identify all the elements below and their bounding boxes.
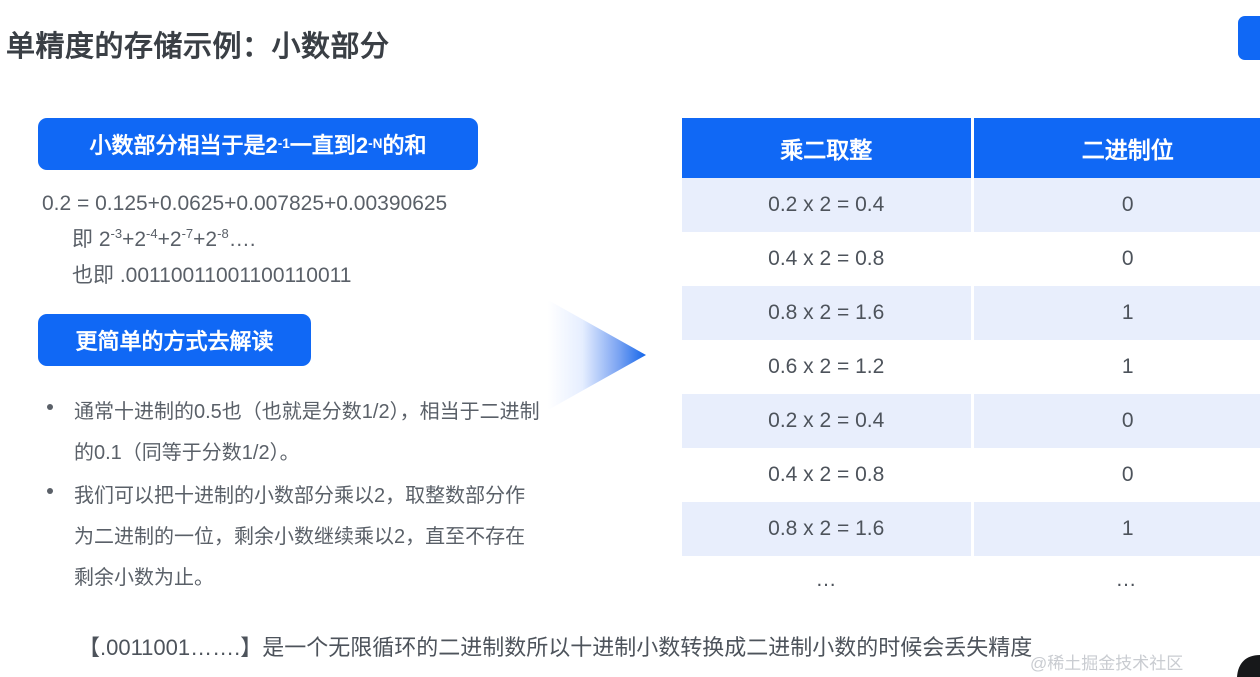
cell-bit-ellipsis: …: [972, 556, 1260, 604]
formula-block: 0.2 = 0.125+0.0625+0.007825+0.00390625 即…: [42, 186, 542, 294]
bullet-list: 通常十进制的0.5也（也就是分数1/2），相当于二进制的0.1（同等于分数1/2…: [40, 392, 540, 601]
table-row: 0.4 x 2 = 0.8 0: [682, 232, 1260, 286]
cell-bit: 1: [972, 502, 1260, 556]
formula-line-3: 也即 .00110011001100110011: [42, 258, 542, 294]
table-header-bit: 二进制位: [972, 118, 1260, 178]
badge-1-suffix: 的和: [383, 128, 427, 160]
list-item: 通常十进制的0.5也（也就是分数1/2），相当于二进制的0.1（同等于分数1/2…: [40, 392, 540, 474]
badge-1-middle: 一直到2: [290, 128, 368, 160]
formula-exp-3: -7: [182, 226, 194, 241]
cell-multiply: 0.6 x 2 = 1.2: [682, 340, 972, 394]
slide-canvas: 单精度的存储示例：小数部分 小数部分相当于是2-1一直到2-N的和 0.2 = …: [0, 0, 1260, 677]
formula-line-1: 0.2 = 0.125+0.0625+0.007825+0.00390625: [42, 186, 542, 222]
badge-fraction-sum: 小数部分相当于是2-1一直到2-N的和: [38, 118, 478, 170]
table-row: 0.8 x 2 = 1.6 1: [682, 502, 1260, 556]
cell-multiply: 0.4 x 2 = 0.8: [682, 448, 972, 502]
cell-multiply: 0.2 x 2 = 0.4: [682, 178, 972, 232]
watermark: @稀土掘金技术社区: [1030, 649, 1183, 674]
table-row: 0.2 x 2 = 0.4 0: [682, 394, 1260, 448]
cell-bit: 0: [972, 178, 1260, 232]
cell-bit: 0: [972, 232, 1260, 286]
badge-simpler-method: 更简单的方式去解读: [38, 314, 311, 366]
cell-bit: 1: [972, 286, 1260, 340]
formula-line-2-b: +2: [158, 228, 182, 251]
formula-line-2-c: +2: [193, 228, 217, 251]
table-row: 0.4 x 2 = 0.8 0: [682, 448, 1260, 502]
right-gradient-arrow-icon: [548, 300, 648, 410]
corner-tab-decoration: [1238, 16, 1260, 60]
cell-multiply: 0.4 x 2 = 0.8: [682, 232, 972, 286]
formula-line-2-prefix: 即 2: [72, 228, 111, 251]
table-header-multiply: 乘二取整: [682, 118, 972, 178]
cell-multiply-ellipsis: …: [682, 556, 972, 604]
formula-line-2: 即 2-3+2-4+2-7+2-8….: [42, 222, 542, 258]
cell-bit: 0: [972, 448, 1260, 502]
table-row: 0.8 x 2 = 1.6 1: [682, 286, 1260, 340]
cell-bit: 1: [972, 340, 1260, 394]
table-row: 0.2 x 2 = 0.4 0: [682, 178, 1260, 232]
table-row: 0.6 x 2 = 1.2 1: [682, 340, 1260, 394]
cell-multiply: 0.8 x 2 = 1.6: [682, 502, 972, 556]
cell-multiply: 0.2 x 2 = 0.4: [682, 394, 972, 448]
formula-exp-4: -8: [217, 226, 229, 241]
cell-bit: 0: [972, 394, 1260, 448]
badge-1-prefix: 小数部分相当于是2: [89, 128, 277, 160]
footer-note: 【.0011001…….】是一个无限循环的二进制数所以十进制小数转换成二进制小数…: [78, 630, 1032, 662]
list-item: 我们可以把十进制的小数部分乘以2，取整数部分作为二进制的一位，剩余小数继续乘以2…: [40, 476, 540, 599]
bullet-dot-icon: [47, 488, 53, 494]
formula-exp-2: -4: [146, 226, 158, 241]
formula-line-2-a: +2: [122, 228, 146, 251]
list-item-label: 我们可以把十进制的小数部分乘以2，取整数部分作为二进制的一位，剩余小数继续乘以2…: [74, 476, 540, 599]
bullet-dot-icon: [47, 404, 53, 410]
formula-line-2-tail: ….: [229, 228, 256, 251]
formula-exp-1: -3: [111, 226, 123, 241]
table-row-ellipsis: … …: [682, 556, 1260, 604]
cell-multiply: 0.8 x 2 = 1.6: [682, 286, 972, 340]
table-header-row: 乘二取整 二进制位: [682, 118, 1260, 178]
brand-corner-mark: [1224, 647, 1260, 677]
conversion-table: 乘二取整 二进制位 0.2 x 2 = 0.4 0 0.4 x 2 = 0.8 …: [682, 118, 1260, 604]
list-item-label: 通常十进制的0.5也（也就是分数1/2），相当于二进制的0.1（同等于分数1/2…: [74, 392, 540, 474]
page-title: 单精度的存储示例：小数部分: [6, 23, 390, 65]
